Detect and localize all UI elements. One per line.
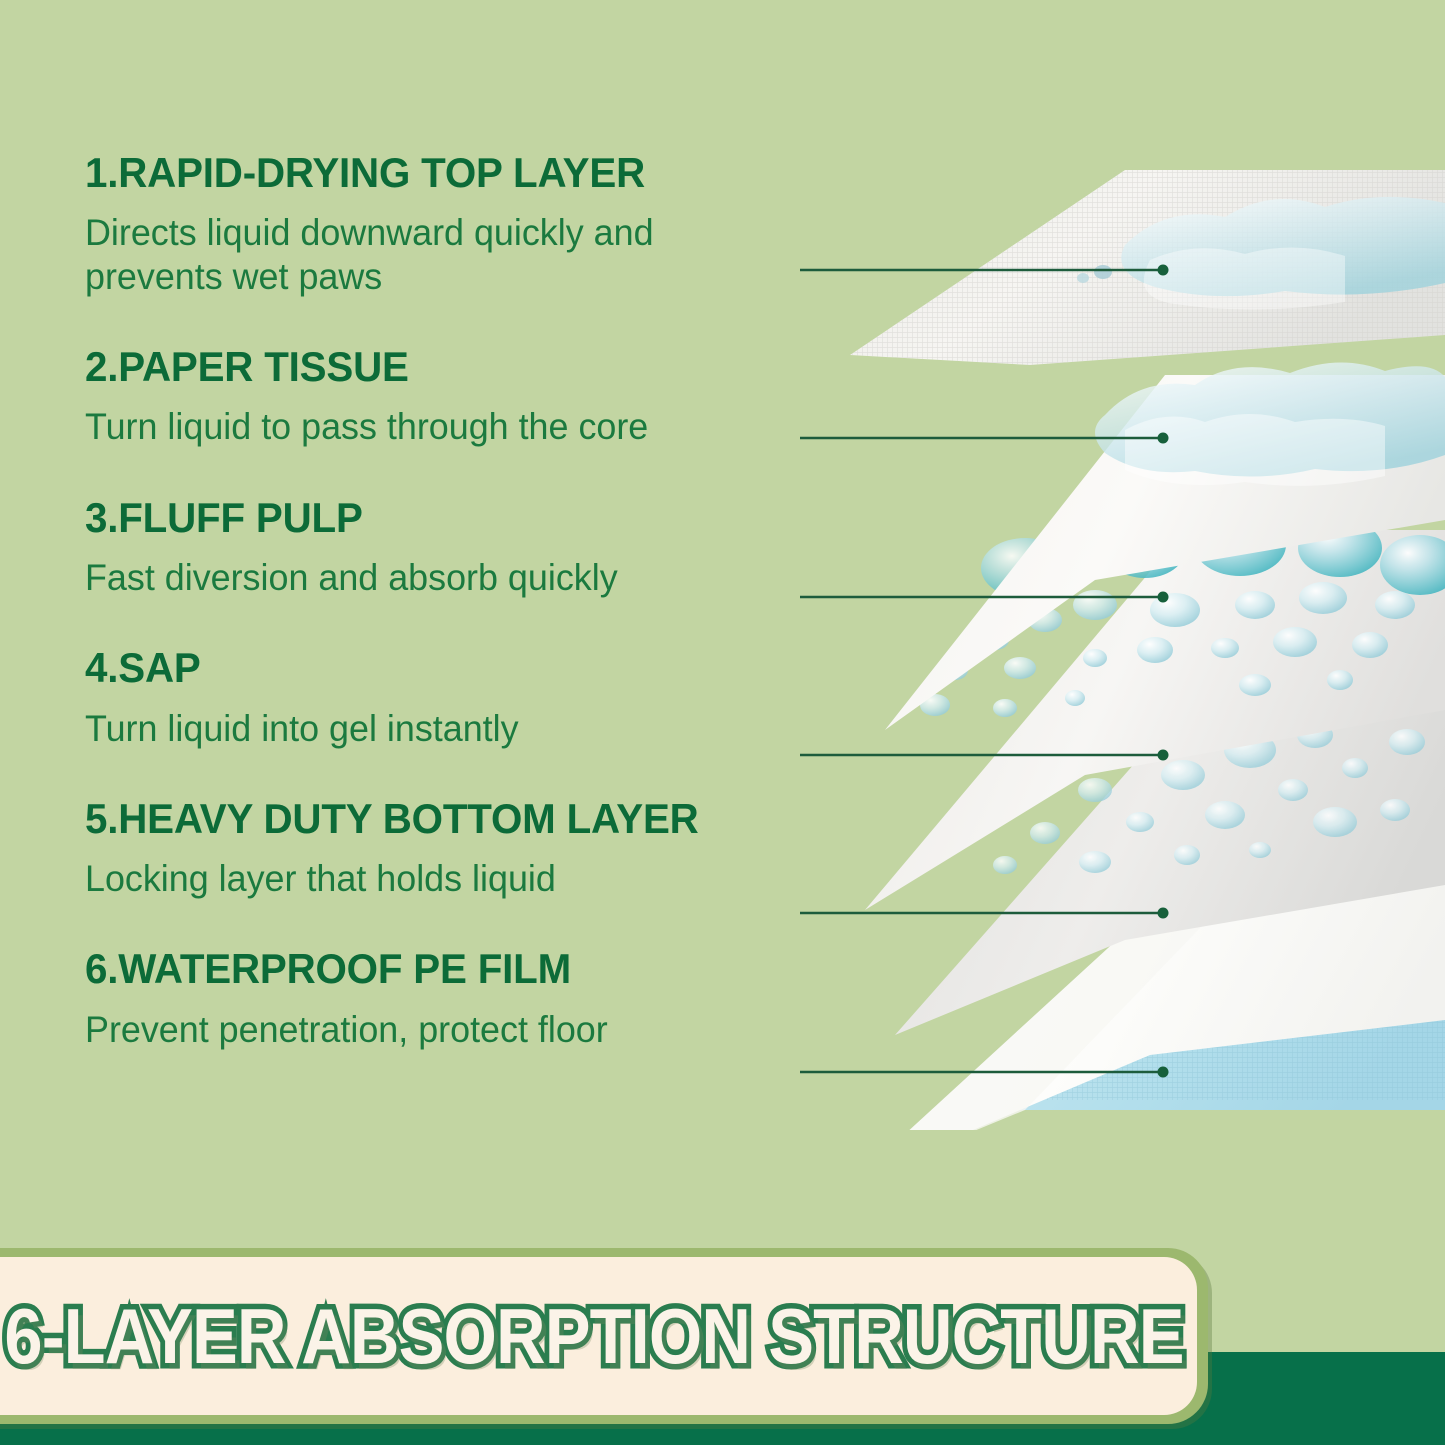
banner-title: 6-LAYER ABSORPTION STRUCTURE: [4, 1291, 1183, 1382]
layer-item-1: 1.RAPID-DRYING TOP LAYER Directs liquid …: [85, 150, 785, 298]
layer-desc-4: Turn liquid into gel instantly: [85, 707, 754, 750]
layer-title-2: 2.PAPER TISSUE: [85, 344, 757, 389]
layer-desc-1: Directs liquid downward quickly and prev…: [85, 211, 754, 298]
banner-panel: 6-LAYER ABSORPTION STRUCTURE: [0, 1257, 1197, 1415]
layer-desc-2: Turn liquid to pass through the core: [85, 405, 754, 448]
layer-title-1: 1.RAPID-DRYING TOP LAYER: [85, 150, 757, 195]
layer-item-4: 4.SAP Turn liquid into gel instantly: [85, 645, 785, 750]
layer-description-list: 1.RAPID-DRYING TOP LAYER Directs liquid …: [85, 150, 785, 1051]
layer-desc-5: Locking layer that holds liquid: [85, 857, 754, 900]
layer-desc-6: Prevent penetration, protect floor: [85, 1008, 754, 1051]
layer-title-5: 5.HEAVY DUTY BOTTOM LAYER: [85, 796, 757, 841]
layer-stack-illustration: [795, 150, 1445, 1130]
layer-title-3: 3.FLUFF PULP: [85, 495, 757, 540]
infographic-root: 1.RAPID-DRYING TOP LAYER Directs liquid …: [0, 0, 1445, 1445]
layer-title-6: 6.WATERPROOF PE FILM: [85, 946, 757, 991]
banner-outline: 6-LAYER ABSORPTION STRUCTURE: [0, 1248, 1208, 1424]
layer-item-3: 3.FLUFF PULP Fast diversion and absorb q…: [85, 495, 785, 600]
sheet-top-layer: [850, 170, 1445, 365]
layer-desc-3: Fast diversion and absorb quickly: [85, 556, 754, 599]
layer-item-5: 5.HEAVY DUTY BOTTOM LAYER Locking layer …: [85, 796, 785, 901]
layer-item-6: 6.WATERPROOF PE FILM Prevent penetration…: [85, 946, 785, 1051]
layer-item-2: 2.PAPER TISSUE Turn liquid to pass throu…: [85, 344, 785, 449]
layer-title-4: 4.SAP: [85, 645, 757, 690]
